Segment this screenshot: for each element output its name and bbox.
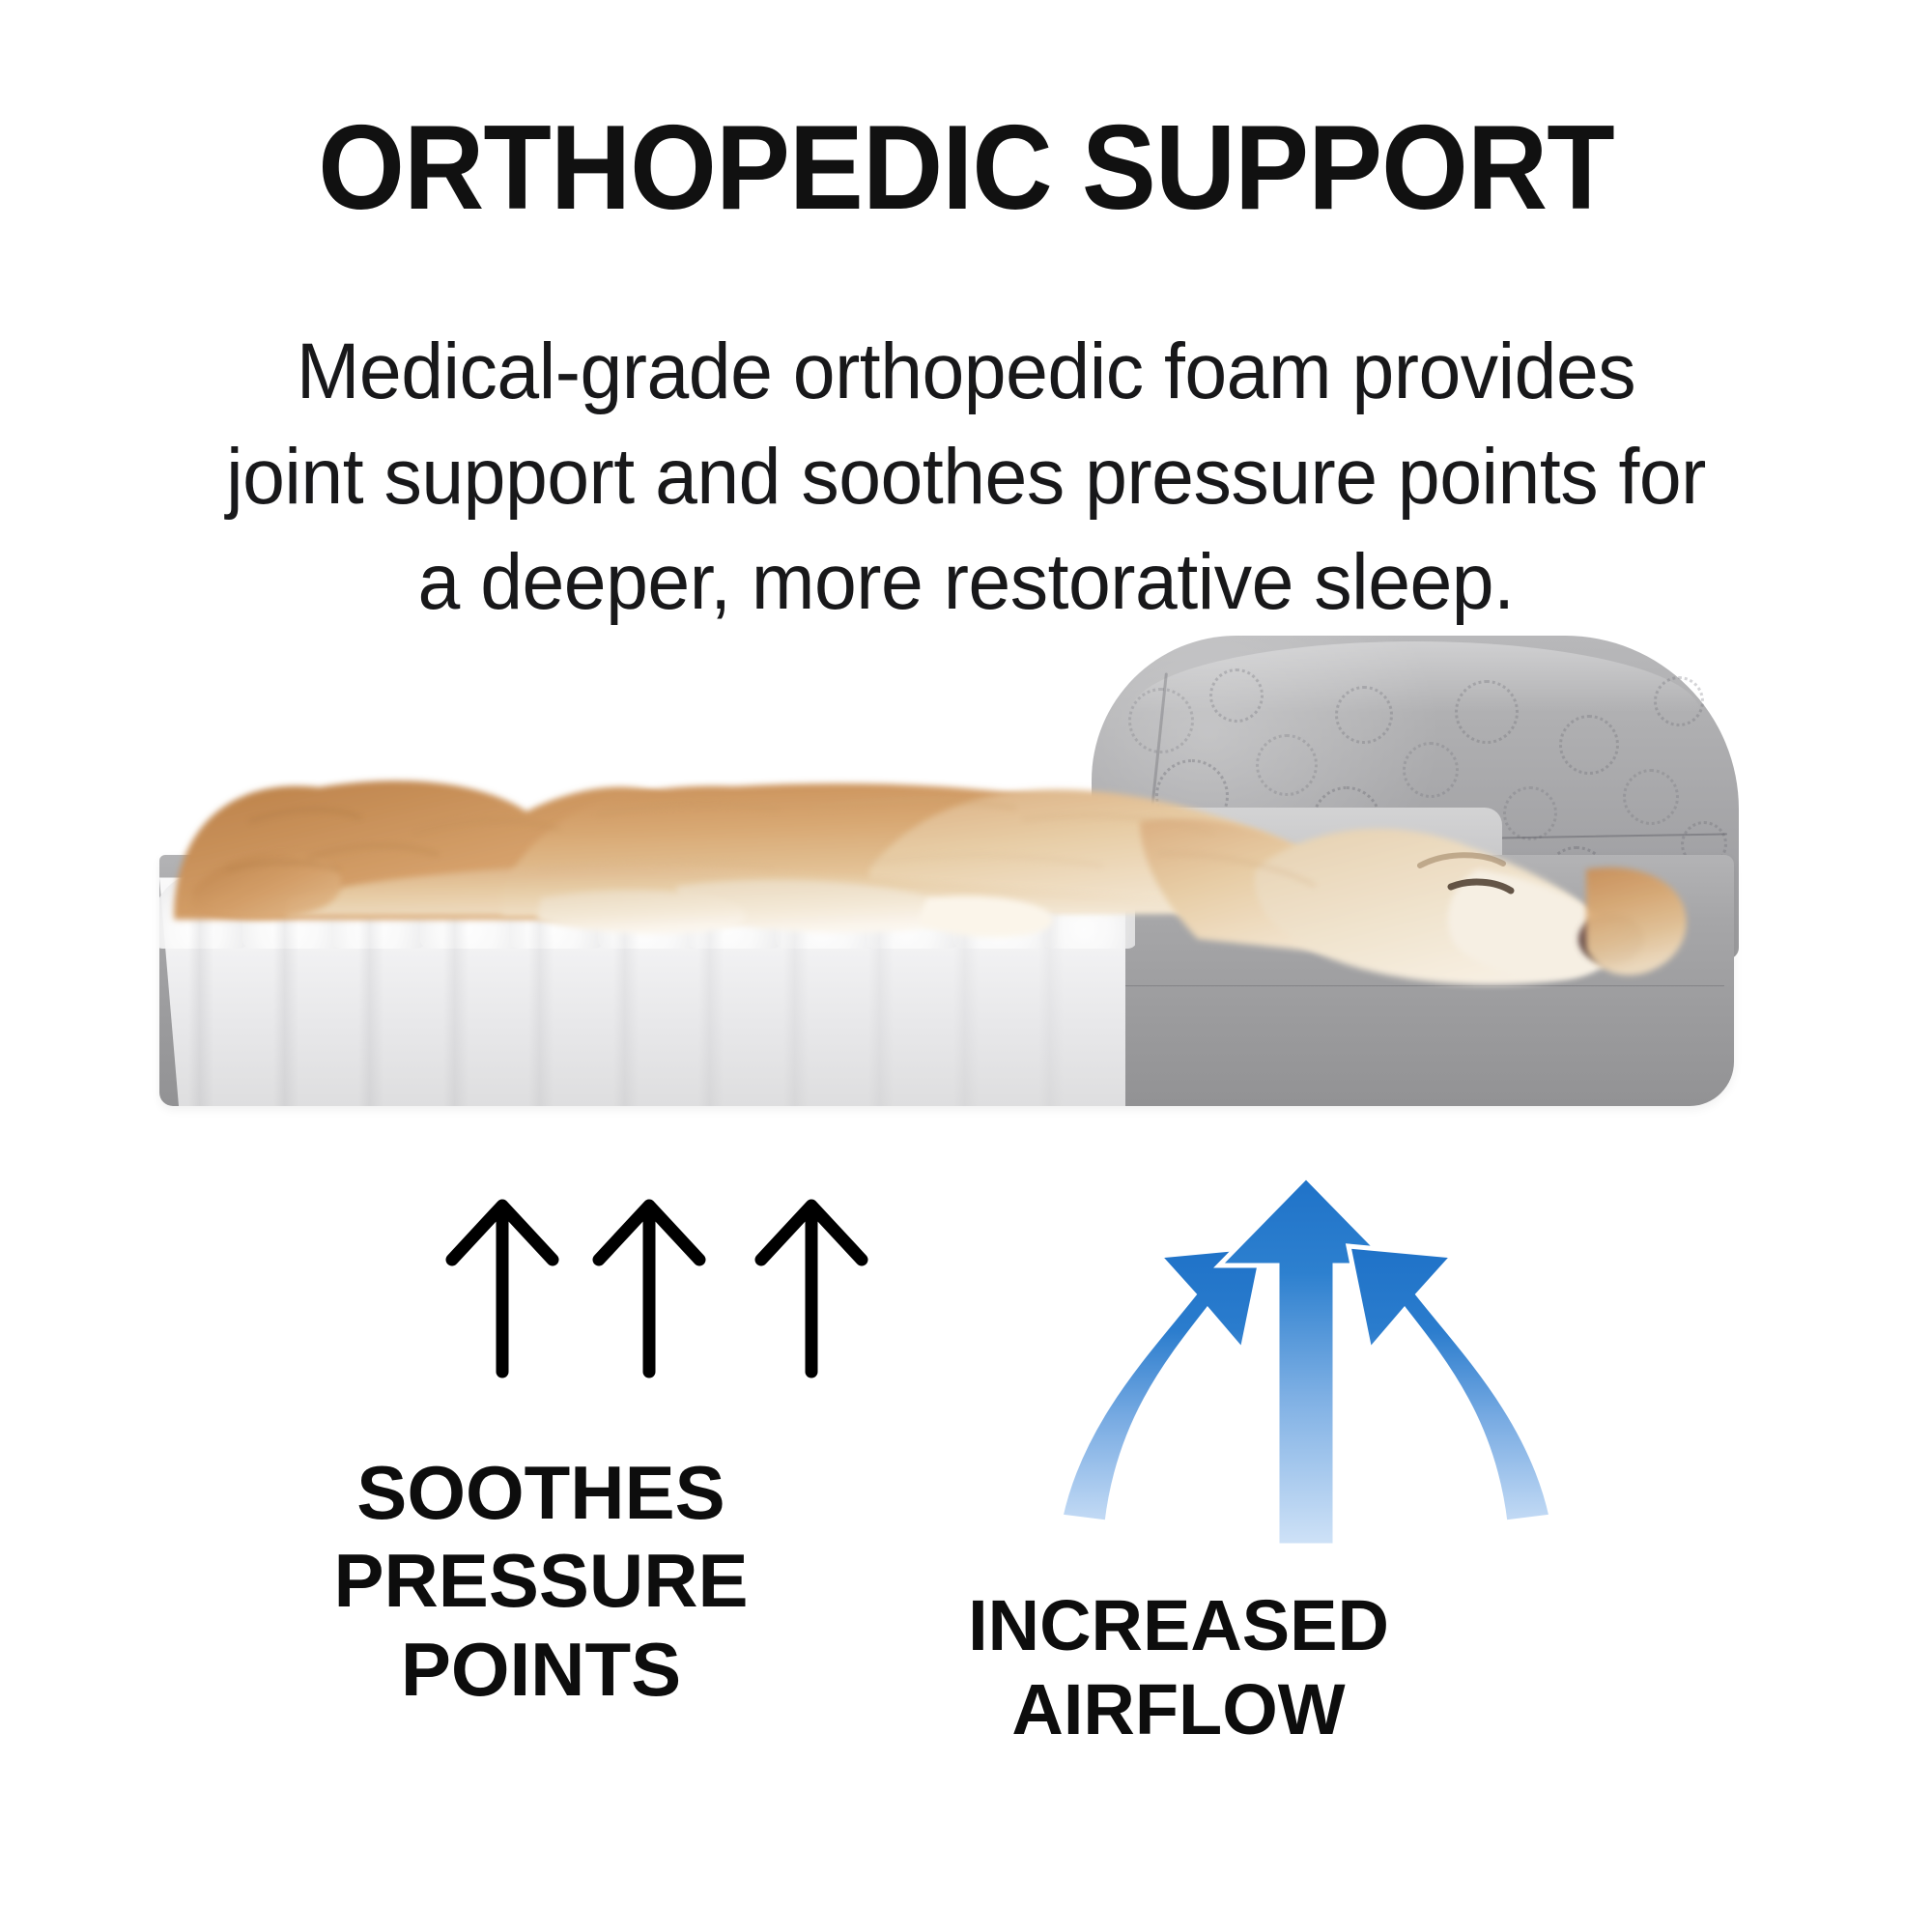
product-photo [0, 580, 1932, 1372]
airflow-label-line-1: INCREASED [860, 1584, 1497, 1668]
pressure-label-line-1: SOOTHES [241, 1449, 840, 1537]
sleeping-dog [0, 580, 1932, 1372]
subtitle-line-2: joint support and soothes pressure point… [136, 424, 1796, 529]
subtitle-line-1: Medical-grade orthopedic foam provides [136, 319, 1796, 424]
dog-ear [1586, 867, 1687, 976]
pressure-label-line-3: POINTS [241, 1626, 840, 1714]
pressure-points-label: SOOTHES PRESSURE POINTS [241, 1449, 840, 1714]
airflow-label-line-2: AIRFLOW [860, 1668, 1497, 1752]
pressure-label-line-2: PRESSURE [241, 1537, 840, 1625]
page-title: ORTHOPEDIC SUPPORT [68, 108, 1864, 228]
infographic-poster: ORTHOPEDIC SUPPORT Medical-grade orthope… [0, 0, 1932, 1932]
airflow-label: INCREASED AIRFLOW [860, 1584, 1497, 1751]
